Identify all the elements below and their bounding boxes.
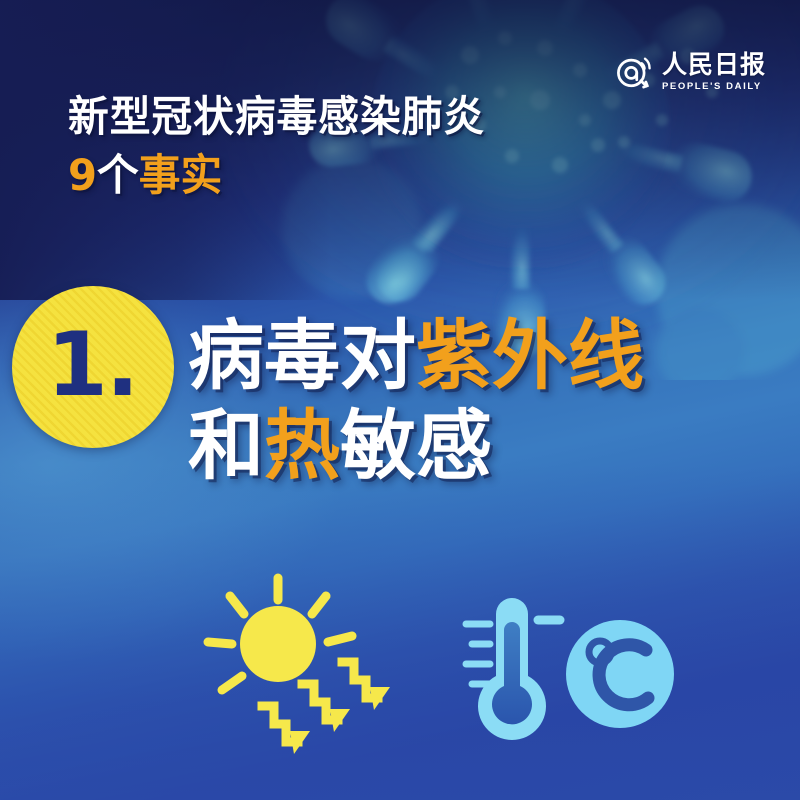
subtitle-measure: 个 — [97, 151, 139, 201]
subtitle-count: 9 — [68, 151, 97, 201]
logo-name-en: PEOPLE'S DAILY — [662, 82, 766, 92]
title-block: 新型冠状病毒感染肺炎 9个事实 — [68, 96, 498, 198]
peoples-daily-logo: 人民日报 PEOPLE'S DAILY — [612, 50, 766, 94]
logo-name-cn: 人民日报 — [662, 53, 766, 78]
headline-l1-seg1: 病毒对 — [188, 311, 416, 400]
at-signal-icon — [612, 50, 656, 94]
subtitle-noun: 事实 — [139, 151, 222, 201]
infographic-canvas: 人民日报 PEOPLE'S DAILY 新型冠状病毒感染肺炎 9个事实 1. 病… — [0, 0, 800, 800]
headline-l2-seg1: 和 — [188, 401, 264, 490]
thermometer-icon — [466, 598, 560, 740]
headline-l2-seg3: 敏感 — [340, 401, 492, 490]
sun-with-uv-rays-icon — [186, 556, 416, 786]
logo-wordmark: 人民日报 PEOPLE'S DAILY — [662, 53, 766, 92]
headline-l2-seg2: 热 — [264, 401, 340, 490]
headline-line-2: 和热敏感 — [188, 408, 644, 484]
headline-l1-seg2: 紫外线 — [416, 311, 644, 400]
page-title: 新型冠状病毒感染肺炎 — [68, 96, 485, 138]
item-number: 1. — [47, 321, 138, 409]
thermometer-and-celsius-icon — [450, 586, 690, 756]
headline-line-1: 病毒对紫外线 — [188, 318, 644, 394]
item-number-badge: 1. — [12, 286, 174, 448]
page-subtitle: 9个事实 — [68, 155, 485, 198]
celsius-degree-icon — [566, 620, 674, 728]
item-headline: 病毒对紫外线 和热敏感 — [188, 318, 644, 484]
